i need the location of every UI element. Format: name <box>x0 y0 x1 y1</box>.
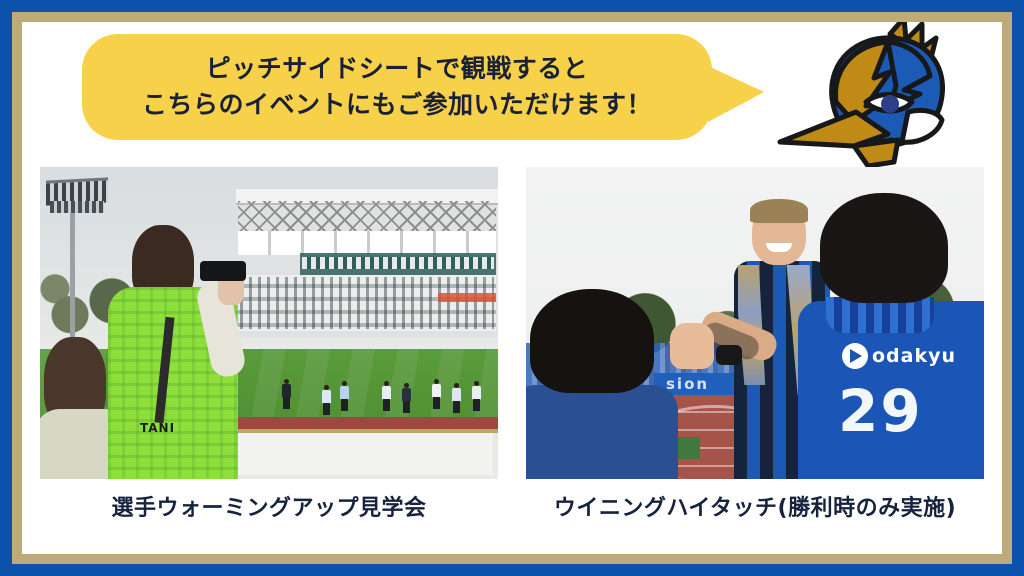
slide-root: ピッチサイドシートで観戦すると こちらのイベントにもご参加いただけます！ <box>0 0 1024 576</box>
callout-bubble: ピッチサイドシートで観戦すると こちらのイベントにもご参加いただけます！ <box>82 34 712 140</box>
player-figure <box>340 381 349 411</box>
stand-spectators <box>240 277 494 329</box>
odakyu-logo-glyph-icon <box>850 349 862 363</box>
fan-hair <box>820 193 948 303</box>
foreground-fan-left <box>526 289 670 479</box>
player-figure <box>402 383 411 413</box>
stand-arches <box>238 231 496 255</box>
fan-photographing: TANI <box>108 225 258 479</box>
kingfisher-mascot-icon <box>770 22 980 176</box>
warmup-viewing-photo: TANI <box>40 167 498 479</box>
foreground-fan-right: odakyu 29 <box>798 193 984 479</box>
player-figure <box>472 381 481 411</box>
player-figure <box>382 381 391 411</box>
player-figure <box>432 379 441 409</box>
caption-warmup: 選手ウォーミングアップ見学会 <box>40 490 498 522</box>
player-figure <box>322 385 331 415</box>
callout-bubble-tail <box>708 66 764 122</box>
floodlight-head-lower <box>50 201 104 213</box>
jersey-sponsor-text: odakyu <box>872 345 956 367</box>
crowd-banner-text: sion <box>666 375 709 393</box>
player-figure <box>282 379 291 409</box>
player-hand <box>670 323 714 369</box>
stand-press-box-windows <box>302 257 494 269</box>
smartphone <box>200 261 246 281</box>
slide-canvas: ピッチサイドシートで観戦すると こちらのイベントにもご参加いただけます！ <box>22 22 1002 554</box>
jersey-number-text: 29 <box>838 377 923 445</box>
stand-orange-seats <box>438 293 496 302</box>
callout-line-1: ピッチサイドシートで観戦すると <box>206 53 589 85</box>
caption-row: 選手ウォーミングアップ見学会 ウイニングハイタッチ(勝利時のみ実施) <box>40 490 984 522</box>
event-card-high-five[interactable]: sion <box>526 167 984 479</box>
caption-high-five: ウイニングハイタッチ(勝利時のみ実施) <box>526 490 984 522</box>
player-wristband <box>716 345 742 365</box>
event-card-warmup[interactable]: TANI <box>40 167 498 479</box>
jersey-name-text: TANI <box>140 421 175 435</box>
player-figure <box>452 383 461 413</box>
event-photo-row: TANI sion <box>40 167 984 479</box>
callout-line-2: こちらのイベントにもご参加いただけます！ <box>142 89 652 121</box>
winning-high-five-photo: sion <box>526 167 984 479</box>
